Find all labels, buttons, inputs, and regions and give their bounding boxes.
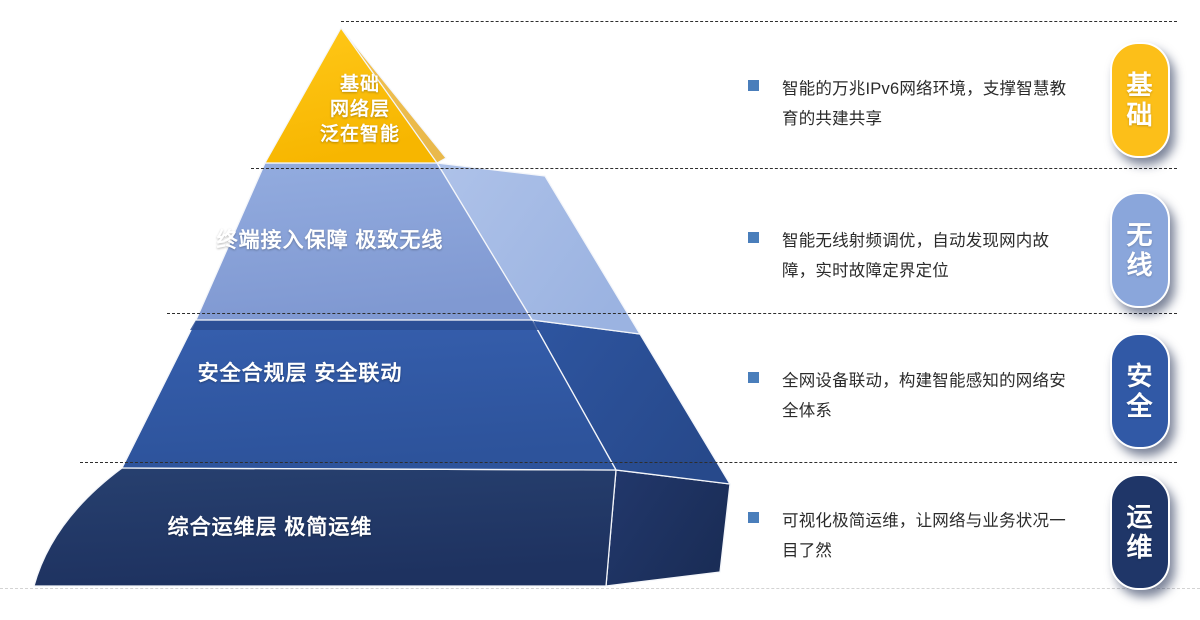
pyramid-layer-operations[interactable] xyxy=(34,468,730,586)
pyramid-layer-operations-front xyxy=(34,468,616,586)
bullet-square-icon xyxy=(748,80,759,91)
badge-security[interactable]: 安 全 xyxy=(1110,333,1170,449)
guide-line-foundation xyxy=(341,21,1177,22)
pyramid-layer-security-front xyxy=(122,320,616,470)
guide-line-security xyxy=(167,313,1177,314)
pyramid-layer-operations-side xyxy=(606,470,730,586)
guide-line-baseline xyxy=(0,588,1200,589)
pyramid-layer-wireless[interactable] xyxy=(196,163,640,334)
badge-operations-char-1: 运 xyxy=(1126,502,1153,532)
badge-foundation[interactable]: 基 础 xyxy=(1110,42,1170,158)
pyramid-layer-foundation[interactable] xyxy=(265,28,446,163)
badge-wireless-char-1: 无 xyxy=(1126,220,1153,250)
description-foundation-text: 智能的万兆IPv6网络环境，支撑智慧教育的共建共享 xyxy=(782,74,1078,134)
description-wireless-text: 智能无线射频调优，自动发现网内故障，实时故障定界定位 xyxy=(782,226,1078,286)
diagram-canvas: 基础 网络层 泛在智能 终端接入保障 极致无线 安全合规层 安全联动 综合运维层… xyxy=(0,0,1200,620)
badge-security-char-2: 全 xyxy=(1126,391,1153,421)
description-security: 全网设备联动，构建智能感知的网络安全体系 xyxy=(748,366,1078,426)
description-operations: 可视化极简运维，让网络与业务状况一目了然 xyxy=(748,506,1078,566)
description-wireless: 智能无线射频调优，自动发现网内故障，实时故障定界定位 xyxy=(748,226,1078,286)
badge-foundation-char-2: 础 xyxy=(1126,100,1153,130)
bullet-square-icon xyxy=(748,232,759,243)
badge-operations-char-2: 维 xyxy=(1126,532,1153,562)
badge-security-char-1: 安 xyxy=(1126,361,1153,391)
guide-line-wireless xyxy=(251,168,1177,169)
badge-foundation-char-1: 基 xyxy=(1126,70,1153,100)
bullet-square-icon xyxy=(748,372,759,383)
badge-wireless-char-2: 线 xyxy=(1126,250,1153,280)
bullet-square-icon xyxy=(748,512,759,523)
description-operations-text: 可视化极简运维，让网络与业务状况一目了然 xyxy=(782,506,1078,566)
pyramid-layer-security[interactable] xyxy=(122,320,730,484)
badge-operations[interactable]: 运 维 xyxy=(1110,474,1170,590)
pyramid-layer-security-cap xyxy=(190,320,540,330)
guide-line-operations xyxy=(80,462,1177,463)
pyramid-layer-foundation-front xyxy=(265,28,437,163)
description-security-text: 全网设备联动，构建智能感知的网络安全体系 xyxy=(782,366,1078,426)
description-foundation: 智能的万兆IPv6网络环境，支撑智慧教育的共建共享 xyxy=(748,74,1078,134)
badge-wireless[interactable]: 无 线 xyxy=(1110,192,1170,308)
